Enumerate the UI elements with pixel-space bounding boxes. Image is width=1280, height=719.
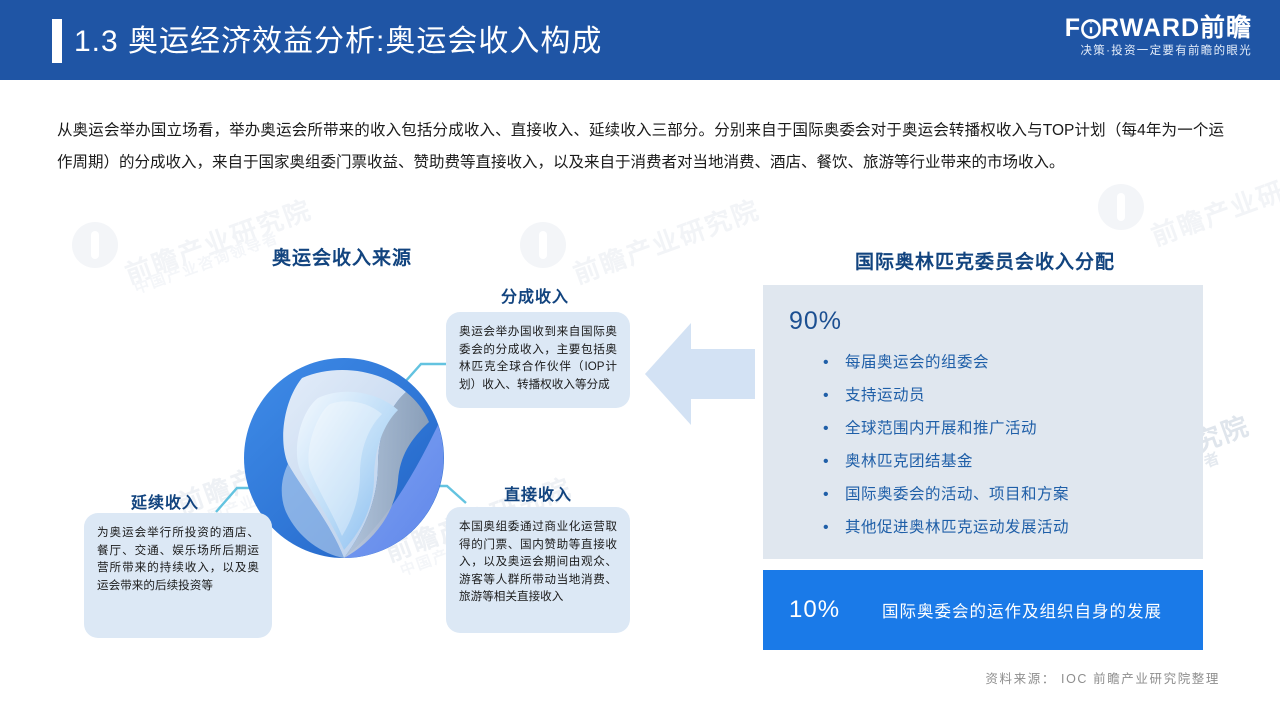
header-bar: 1.3 奥运经济效益分析:奥运会收入构成 FRWARD前瞻 决策·投资一定要有前… — [0, 0, 1280, 80]
callout-share: 奥运会举办国收到来自国际奥委会的分成收入，主要包括奥林匹克全球合作伙伴（IOP计… — [446, 312, 630, 408]
callout-direct: 本国奥组委通过商业化运营取得的门票、国内赞助等直接收入，以及奥运会期间由观众、游… — [446, 507, 630, 633]
watermark-brand: 前瞻产业研究院 — [120, 190, 317, 292]
node-label-continuation: 延续收入 — [131, 489, 199, 513]
allocation-bullet-list: • 每届奥运会的组委会 • 支持运动员 • 全球范围内开展和推广活动 • 奥林匹… — [823, 353, 1193, 551]
intro-paragraph: 从奥运会举办国立场看，举办奥运会所带来的收入包括分成收入、直接收入、延续收入三部… — [57, 115, 1224, 179]
major-percentage: 90% — [789, 307, 842, 336]
minor-allocation-bar: 10% 国际奥委会的运作及组织自身的发展 — [763, 570, 1203, 650]
callout-continuation: 为奥运会举行所投资的酒店、餐厅、交通、娱乐场所后期运营所带来的持续收入，以及奥运… — [84, 513, 272, 638]
watermark-logo-mark — [1098, 184, 1144, 230]
list-item-label: 每届奥运会的组委会 — [845, 353, 989, 373]
watermark-sub: 中国产业咨询领导者 — [131, 226, 282, 298]
logo-wordmark: FRWARD前瞻 — [1065, 14, 1252, 42]
minor-percentage: 10% — [789, 596, 840, 624]
node-label-share: 分成收入 — [501, 283, 569, 307]
left-section-title: 奥运会收入来源 — [272, 243, 412, 270]
list-item: • 其他促进奥林匹克运动发展活动 — [823, 518, 1193, 538]
bullet-dot-icon: • — [823, 353, 845, 373]
watermark-logo-mark — [520, 222, 566, 268]
source-note: 资料来源： IOC 前瞻产业研究院整理 — [985, 668, 1220, 687]
brand-logo: FRWARD前瞻 决策·投资一定要有前瞻的眼光 — [1065, 14, 1252, 59]
logo-tagline: 决策·投资一定要有前瞻的眼光 — [1065, 43, 1252, 59]
list-item: • 国际奥委会的活动、项目和方案 — [823, 485, 1193, 505]
logo-wordmark-prefix: F — [1065, 14, 1081, 42]
node-label-direct: 直接收入 — [504, 481, 572, 505]
slide-canvas: 前瞻产业研究院 中国产业咨询领导者 前瞻产业研究院 前瞻产业研究院 前瞻产业研究… — [0, 0, 1280, 719]
bullet-dot-icon: • — [823, 386, 845, 406]
list-item-label: 全球范围内开展和推广活动 — [845, 419, 1037, 439]
list-item-label: 奥林匹克团结基金 — [845, 452, 973, 472]
list-item: • 奥林匹克团结基金 — [823, 452, 1193, 472]
bullet-dot-icon: • — [823, 485, 845, 505]
distribution-panel: 90% • 每届奥运会的组委会 • 支持运动员 • 全球范围内开展和推广活动 •… — [763, 285, 1203, 559]
right-section-title: 国际奥林匹克委员会收入分配 — [855, 247, 1115, 274]
list-item-label: 国际奥委会的活动、项目和方案 — [845, 485, 1069, 505]
header-accent-bar — [52, 19, 62, 63]
bullet-dot-icon: • — [823, 419, 845, 439]
list-item: • 支持运动员 — [823, 386, 1193, 406]
watermark-logo-mark — [72, 222, 118, 268]
page-title: 1.3 奥运经济效益分析:奥运会收入构成 — [74, 20, 602, 64]
list-item-label: 其他促进奥林匹克运动发展活动 — [845, 518, 1069, 538]
logo-wordmark-suffix: RWARD前瞻 — [1101, 14, 1252, 42]
bullet-dot-icon: • — [823, 452, 845, 472]
list-item: • 每届奥运会的组委会 — [823, 353, 1193, 373]
watermark-brand: 前瞻产业研究院 — [568, 190, 765, 292]
globe-icon — [1081, 19, 1101, 39]
minor-allocation-label: 国际奥委会的运作及组织自身的发展 — [882, 598, 1162, 622]
list-item-label: 支持运动员 — [845, 386, 925, 406]
list-item: • 全球范围内开展和推广活动 — [823, 419, 1193, 439]
flow-arrow-left-icon — [645, 315, 765, 433]
bullet-dot-icon: • — [823, 518, 845, 538]
